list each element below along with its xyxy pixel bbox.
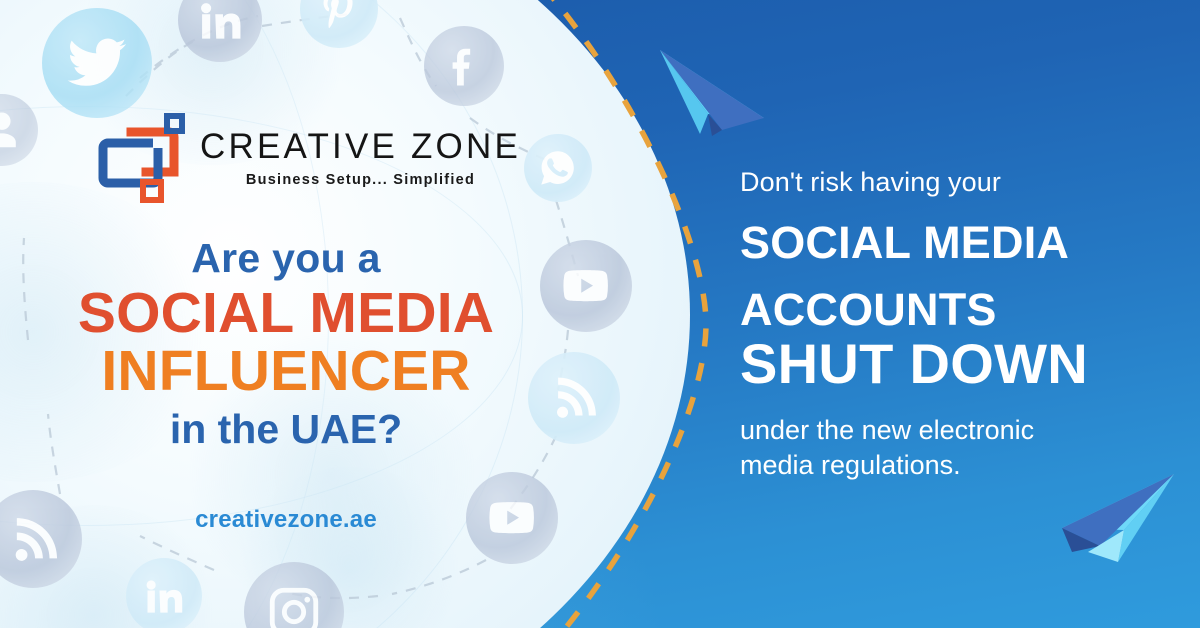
website-url[interactable]: creativezone.ae: [0, 506, 572, 534]
whatsapp-icon: [524, 134, 592, 202]
right-line-4: SHUT DOWN: [740, 335, 1170, 393]
paper-plane-icon: [646, 34, 776, 138]
creative-zone-logo[interactable]: CREATIVE ZONE Business Setup... Simplifi…: [88, 112, 521, 204]
right-line-6: media regulations.: [740, 448, 1170, 483]
headline-line-2: SOCIAL MEDIA: [0, 284, 572, 342]
paper-plane-icon: [1028, 468, 1188, 578]
right-line-5: under the new electronic: [740, 413, 1170, 448]
logo-wordmark: CREATIVE ZONE: [200, 129, 521, 164]
right-line-3: ACCOUNTS: [740, 286, 1170, 333]
promo-banner: CREATIVE ZONE Business Setup... Simplifi…: [0, 0, 1200, 628]
headline-line-4: in the UAE?: [0, 407, 572, 452]
twitter-icon: [42, 8, 152, 118]
right-line-2: SOCIAL MEDIA: [740, 219, 1170, 266]
right-line-1: Don't risk having your: [740, 166, 1170, 199]
right-message-block: Don't risk having your SOCIAL MEDIA ACCO…: [740, 166, 1170, 482]
logo-tagline: Business Setup... Simplified: [200, 172, 521, 188]
linkedin-icon: [126, 558, 202, 628]
left-headline-block: Are you a SOCIAL MEDIA INFLUENCER in the…: [0, 236, 572, 452]
headline-line-1: Are you a: [0, 236, 572, 280]
logo-mark-icon: [88, 112, 188, 204]
facebook-icon: [424, 26, 504, 106]
headline-line-3: INFLUENCER: [0, 342, 572, 400]
